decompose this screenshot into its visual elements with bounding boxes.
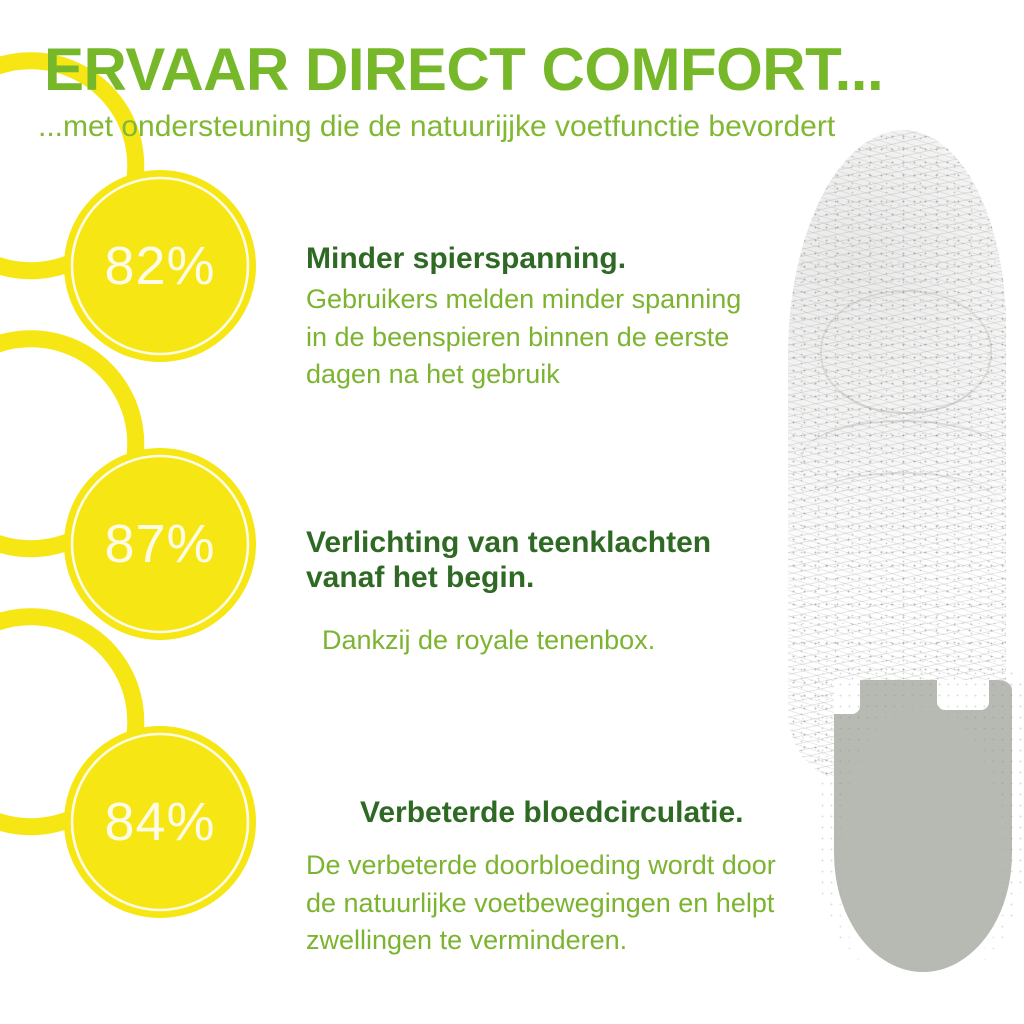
stat-title: Verbeterde bloedcirculatie. [306,796,886,831]
page-title: ERVAAR DIRECT COMFORT... [0,0,1024,101]
stat-row: 84% Verbeterde bloedcirculatie. De verbe… [0,716,1024,994]
stat-list: 82% Minder spierspanning. Gebruikers mel… [0,160,1024,994]
stat-title: Verlichting van teenklachten vanaf het b… [306,526,886,596]
stat-body: Dankzij de royale tenenbox. [306,622,886,660]
percent-value: 87% [62,446,258,642]
stat-body: Gebruikers melden minder spanning in de … [306,281,886,394]
percent-value: 82% [62,168,258,364]
stat-row: 87% Verlichting van teenklachten vanaf h… [0,438,1024,716]
stat-row: 82% Minder spierspanning. Gebruikers mel… [0,160,1024,438]
percent-ring-84: 84% [62,724,288,950]
stat-text-block: Verlichting van teenklachten vanaf het b… [306,526,886,659]
page-subtitle: ...met ondersteuning die de natuurijjke … [0,101,1024,145]
percent-value: 84% [62,724,258,920]
infographic-poster: ERVAAR DIRECT COMFORT... ...met onderste… [0,0,1024,1024]
stat-text-block: Minder spierspanning. Gebruikers melden … [306,242,886,394]
poster-header: ERVAAR DIRECT COMFORT... ...met onderste… [0,0,1024,145]
stat-title: Minder spierspanning. [306,242,886,277]
stat-body: De verbeterde doorbloeding wordt door de… [306,847,886,960]
stat-text-block: Verbeterde bloedcirculatie. De verbeterd… [306,796,886,960]
